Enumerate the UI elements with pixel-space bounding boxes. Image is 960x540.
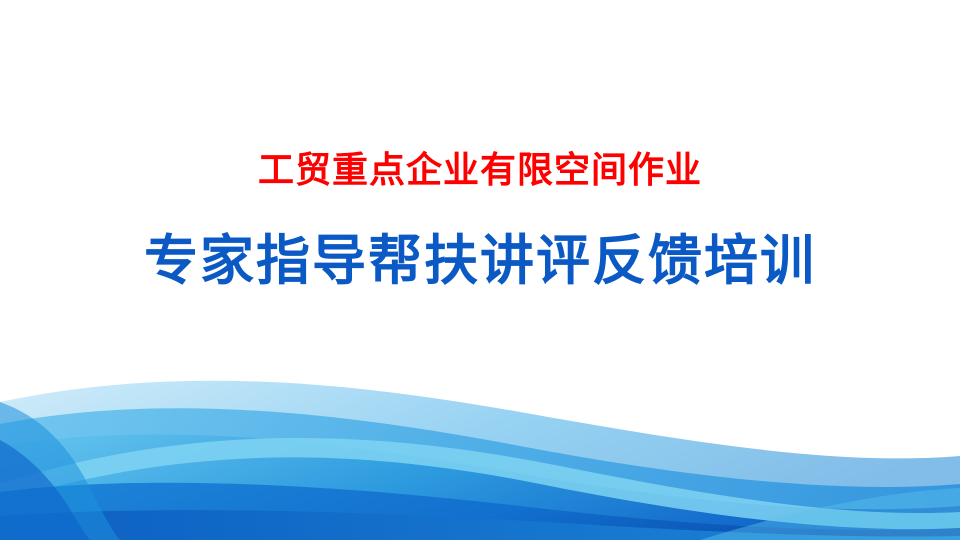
wave-graphic-icon bbox=[0, 306, 960, 540]
blue-wave-decoration bbox=[0, 306, 960, 540]
slide-main-title: 专家指导帮扶讲评反馈培训 bbox=[0, 228, 960, 294]
slide-subtitle-line: 工贸重点企业有限空间作业 bbox=[0, 148, 960, 192]
presentation-slide: 工贸重点企业有限空间作业 专家指导帮扶讲评反馈培训 bbox=[0, 0, 960, 540]
